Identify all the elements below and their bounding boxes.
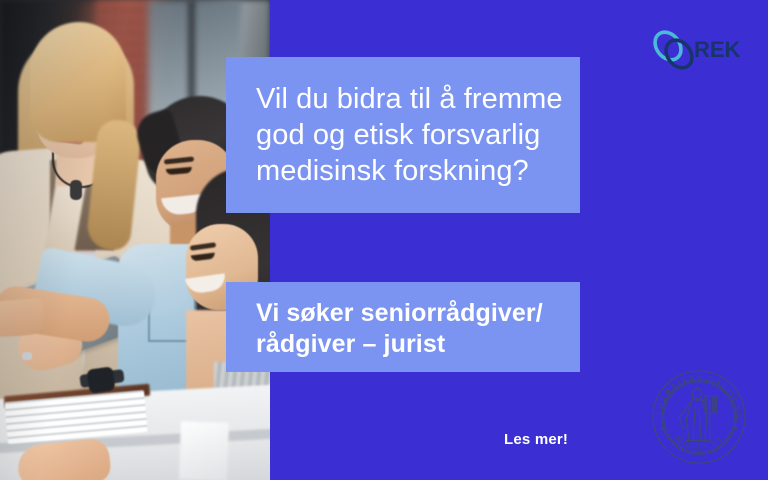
headline-textbox: Vil du bidra til å fremme god og etisk f… bbox=[226, 57, 580, 213]
recruitment-banner: Vil du bidra til å fremme god og etisk f… bbox=[0, 0, 768, 480]
seal-legend-bottom: MDCCCXI bbox=[673, 433, 724, 452]
job-title-textbox: Vi søker seniorrådgiver/ rådgiver – juri… bbox=[226, 282, 580, 372]
headline-line-3: medisinsk forskning? bbox=[256, 153, 580, 189]
rek-wordmark: REK bbox=[694, 37, 740, 62]
read-more-link[interactable]: Les mer! bbox=[504, 431, 568, 448]
uio-seal: UNIVERSITAS OSLOENSIS MDCCCXI bbox=[650, 368, 748, 466]
seal-dot-right bbox=[734, 427, 737, 430]
seal-apollo-figure bbox=[679, 388, 716, 442]
seal-dot-left bbox=[661, 427, 664, 430]
headline-line-2: god og etisk forsvarlig bbox=[256, 117, 580, 153]
seal-legend-top: UNIVERSITAS OSLOENSIS bbox=[650, 368, 743, 420]
headline-line-1: Vil du bidra til å fremme bbox=[256, 81, 580, 117]
job-title-line-1: Vi søker seniorrådgiver/ bbox=[256, 298, 580, 329]
rek-rings-icon bbox=[650, 28, 697, 72]
rek-logo[interactable]: REK bbox=[650, 28, 740, 72]
job-title-line-2: rådgiver – jurist bbox=[256, 329, 580, 360]
